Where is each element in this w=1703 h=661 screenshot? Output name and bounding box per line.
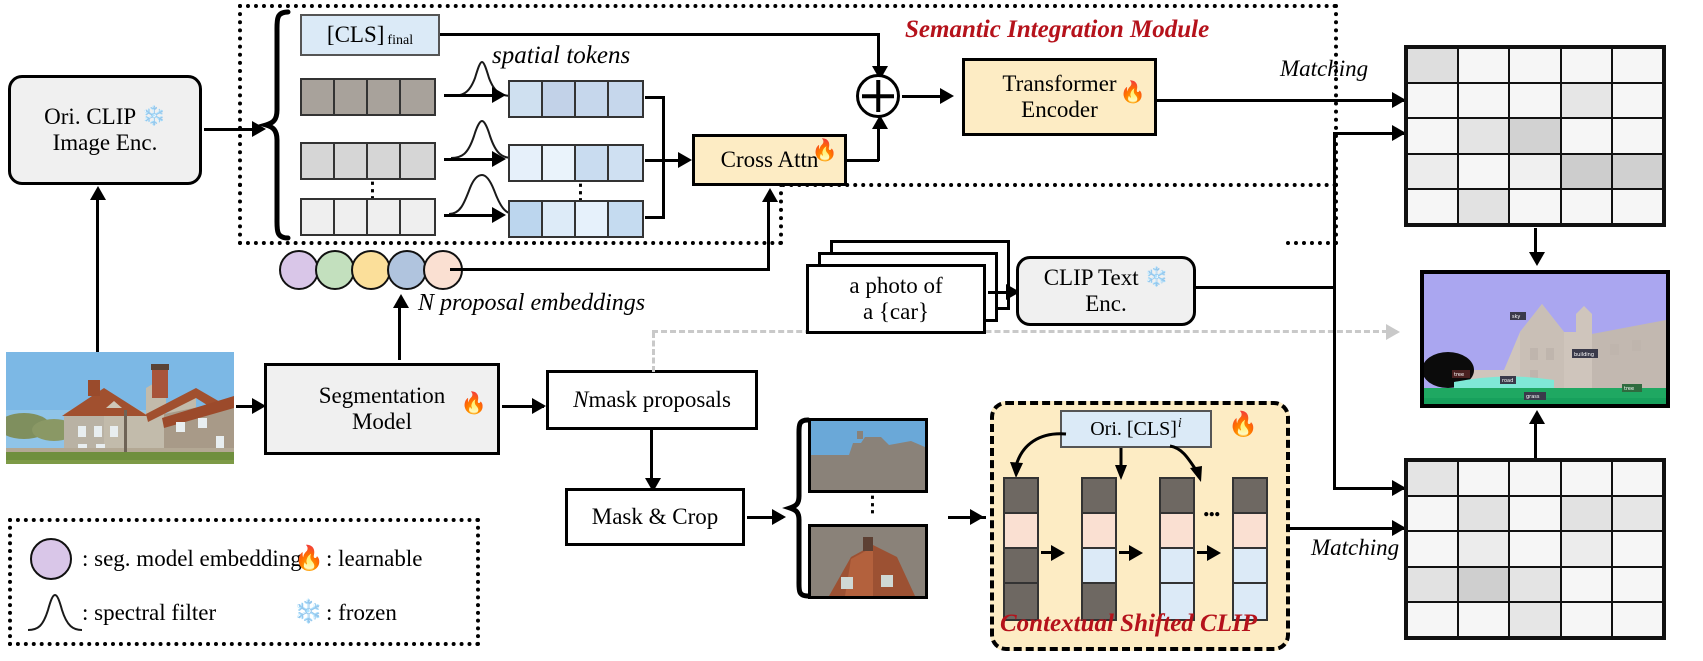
- proposal-bus-arrowhead: [762, 188, 778, 202]
- clip-text-encoder-label-line1: CLIP Text: [1044, 265, 1139, 291]
- segmentation-model-label-line1: Segmentation: [319, 383, 445, 409]
- ori-cls-i-superscript: i: [1178, 412, 1182, 432]
- spatial-token-row-3: [508, 200, 644, 238]
- cross-attn-box[interactable]: Cross Attn 🔥: [692, 134, 847, 186]
- proposal-embedding-3: [351, 250, 391, 290]
- fire-icon: 🔥: [812, 139, 838, 163]
- dashed-mask-link-arrowhead: [1386, 324, 1400, 340]
- arrow-seg-to-proposals-shaft: [398, 305, 401, 360]
- spatial-tokens-label: spatial tokens: [492, 42, 630, 70]
- token-row-mid: [300, 142, 436, 180]
- contextual-shifted-clip-title: Contextual Shifted CLIP: [1000, 610, 1257, 638]
- legend-snow-label: : frozen: [326, 600, 397, 626]
- ori-cls-i-box[interactable]: Ori. [CLS] i: [1060, 410, 1212, 448]
- shift-arrow-2-shaft: [1119, 551, 1133, 554]
- cls-final-subscript: final: [387, 33, 413, 54]
- fire-icon: 🔥: [1228, 410, 1258, 438]
- n-mask-proposals-n: N: [573, 387, 588, 413]
- clip-text-encoder-box[interactable]: CLIP Text ❄️ Enc.: [1016, 256, 1196, 326]
- arrow-seg-to-mask-head: [532, 398, 546, 414]
- cls-to-sum-hline: [440, 33, 880, 36]
- fire-icon: 🔥: [1120, 81, 1146, 105]
- arrow-seg-to-proposals-head: [393, 294, 409, 308]
- matching-matrix-top: [1404, 45, 1666, 227]
- crossattn-to-sum-v: [877, 125, 880, 161]
- arrow-sum-to-encoder-head: [940, 88, 954, 104]
- shift-col-3: [1159, 477, 1195, 621]
- arrow-bottommatrix-to-result-shaft: [1534, 422, 1537, 458]
- shift-arrow-1-shaft: [1041, 551, 1055, 554]
- proposal-embeddings-group: [279, 250, 463, 290]
- semantic-integration-module-frame-right-foot: [1286, 241, 1338, 245]
- sum-operator-icon: [856, 74, 900, 118]
- arrow-image-to-clip-enc-shaft: [96, 196, 99, 352]
- cls-final-label: [CLS]: [327, 22, 385, 48]
- transformer-encoder-label-line1: Transformer: [1002, 71, 1116, 97]
- arrow-filter3-head: [492, 207, 506, 223]
- text-prompt-box[interactable]: a photo of a {car}: [806, 264, 986, 334]
- n-proposal-embeddings-label: N proposal embeddings: [418, 290, 645, 317]
- dashed-mask-link-v: [652, 332, 655, 372]
- cls-final-box[interactable]: [CLS] final: [300, 14, 440, 56]
- transformer-encoder-label-line2: Encoder: [1021, 97, 1098, 123]
- crops-brace-left: [788, 418, 810, 598]
- mask-and-crop-box[interactable]: Mask & Crop: [565, 488, 745, 546]
- clip-text-encoder-label-line2: Enc.: [1085, 291, 1127, 317]
- svg-text:road: road: [1502, 378, 1513, 384]
- legend-circle-label: : seg. model embedding: [82, 546, 302, 572]
- svg-text:sky: sky: [1512, 314, 1520, 320]
- cross-attn-label: Cross Attn: [721, 147, 819, 173]
- shift-arrow-3-shaft: [1197, 551, 1211, 554]
- crossattn-to-sum-h: [847, 159, 879, 162]
- spatial-token-row-1: [508, 80, 644, 118]
- arrow-csc-to-matching-shaft: [1290, 527, 1408, 530]
- fire-icon: 🔥: [294, 544, 324, 572]
- arrow-bottommatrix-to-result-head: [1529, 410, 1545, 424]
- text-prompt-line2: a {car}: [863, 299, 929, 325]
- svg-text:grass: grass: [1526, 394, 1540, 400]
- snowflake-icon: ❄️: [142, 106, 166, 127]
- spatial-bus-v: [662, 96, 665, 219]
- proposal-bus-h: [450, 268, 770, 271]
- fire-icon: 🔥: [461, 392, 487, 416]
- crops-ellipsis: ⋮: [862, 492, 883, 517]
- n-proposal-embeddings-rest: proposal embeddings: [434, 290, 645, 316]
- svg-text:building: building: [1574, 352, 1594, 358]
- matching-label-bottom: Matching: [1311, 535, 1399, 561]
- mask-and-crop-label: Mask & Crop: [592, 504, 719, 530]
- legend-filter-label: : spectral filter: [82, 600, 216, 626]
- arrow-filter2-head: [492, 151, 506, 167]
- masked-crop-1: [808, 418, 928, 493]
- cls-to-sum-vline: [877, 33, 880, 70]
- spatial-token-row-2: [508, 144, 644, 182]
- n-mask-proposals-rest: mask proposals: [588, 387, 730, 413]
- segmentation-result-image: sky building road grass tree tree: [1420, 270, 1670, 408]
- n-mask-proposals-box[interactable]: N mask proposals: [546, 370, 758, 430]
- transformer-encoder-box[interactable]: Transformer Encoder 🔥: [962, 58, 1157, 136]
- arrow-image-to-clip-enc-head: [90, 186, 106, 200]
- dashed-mask-link-h: [652, 330, 1397, 333]
- matching-label-top: Matching: [1280, 56, 1368, 82]
- input-image: [6, 352, 234, 464]
- ori-clip-image-encoder-label-line2: Image Enc.: [53, 130, 158, 156]
- segmentation-model-label-line2: Model: [352, 409, 412, 435]
- shift-columns-ellipsis: ...: [1203, 493, 1220, 523]
- proposal-bus-v: [767, 200, 770, 270]
- ori-cls-curved-arrow-left: [1000, 430, 1070, 482]
- svg-text:tree: tree: [1454, 372, 1464, 378]
- legend-circle-icon: [30, 538, 72, 580]
- arrow-filter1-head: [492, 87, 506, 103]
- segmentation-model-box[interactable]: Segmentation Model 🔥: [264, 363, 500, 455]
- semantic-integration-module-title: Semantic Integration Module: [905, 16, 1209, 44]
- textenc-out-v: [1333, 132, 1336, 490]
- matching-matrix-bottom: [1404, 458, 1666, 640]
- legend-spectral-filter-icon: [26, 592, 84, 632]
- token-row-dark: [300, 78, 436, 116]
- shift-col-1: [1003, 477, 1039, 621]
- token-group-brace: [264, 10, 290, 240]
- ori-clip-image-encoder-label-line1: Ori. CLIP: [44, 104, 136, 130]
- text-prompt-line1: a photo of: [849, 273, 942, 299]
- proposal-embedding-2: [315, 250, 355, 290]
- snowflake-icon: ❄️: [294, 598, 323, 625]
- n-proposal-embeddings-n: N: [418, 290, 434, 316]
- shift-col-2: [1081, 477, 1117, 621]
- spatial-bus-arrowhead: [678, 152, 692, 168]
- arrow-mask-to-crop-shaft: [650, 430, 653, 482]
- ori-clip-image-encoder-box[interactable]: Ori. CLIP ❄️ Image Enc.: [8, 75, 202, 185]
- shift-col-4: [1232, 477, 1268, 621]
- ori-cls-i-label: Ori. [CLS]: [1090, 418, 1177, 440]
- arrow-crop-to-crops-head: [772, 509, 786, 525]
- arrow-topmatrix-to-result-head: [1529, 252, 1545, 266]
- proposal-embedding-1: [279, 250, 319, 290]
- legend-fire-label: : learnable: [326, 546, 422, 572]
- arrow-encoder-to-matching-shaft: [1157, 99, 1407, 102]
- textenc-out-h: [1196, 286, 1336, 289]
- proposal-embedding-4: [387, 250, 427, 290]
- snowflake-icon: ❄️: [1145, 267, 1169, 288]
- svg-text:tree: tree: [1624, 386, 1634, 392]
- token-row-light: [300, 198, 436, 236]
- arrow-crops-to-csc-head: [970, 509, 984, 525]
- figure-canvas: Ori. CLIP ❄️ Image Enc. Semantic Integra…: [0, 0, 1703, 661]
- masked-crop-2: [808, 524, 928, 599]
